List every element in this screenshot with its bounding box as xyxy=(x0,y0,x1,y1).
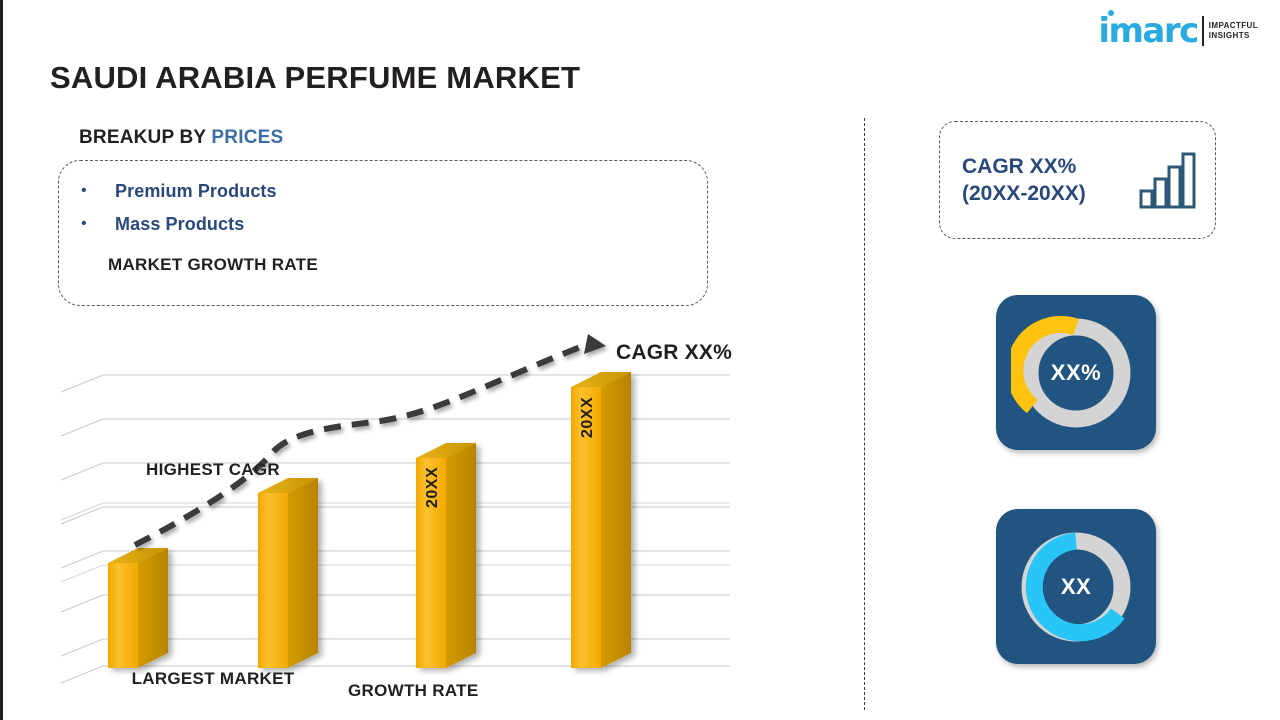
largest-market-card: XX xyxy=(996,509,1156,664)
section-title-prefix: BREAKUP BY xyxy=(79,127,211,148)
bar-front-face xyxy=(108,563,138,668)
largest-market-label: LARGEST MARKET xyxy=(3,669,423,689)
list-item-label: Premium Products xyxy=(115,177,277,205)
list-item-label: Mass Products xyxy=(115,210,244,238)
section-title-accent: PRICES xyxy=(211,127,283,148)
bar-side-face xyxy=(138,548,168,668)
panel-divider xyxy=(864,118,865,710)
bullet-icon: • xyxy=(81,210,115,238)
trend-line xyxy=(135,334,606,545)
chart-svg: 20XX 20XX xyxy=(43,330,783,710)
bar-front-face xyxy=(258,493,288,668)
highest-cagr-label: HIGHEST CAGR xyxy=(3,460,423,480)
bar-label-3: 20XX xyxy=(424,467,441,508)
page-title: SAUDI ARABIA PERFUME MARKET xyxy=(50,60,580,96)
growth-rate-line1: CAGR XX% xyxy=(962,153,1137,180)
highest-cagr-value: XX% xyxy=(1051,360,1101,386)
highest-cagr-card: XX% xyxy=(996,295,1156,450)
breakup-list-box: • Premium Products • Mass Products xyxy=(58,160,708,306)
bar-label-4: 20XX xyxy=(579,397,596,438)
bullet-icon: • xyxy=(81,177,115,205)
market-growth-rate-label: MARKET GROWTH RATE xyxy=(3,255,423,275)
bar-group-2 xyxy=(258,478,318,668)
trend-arrow-icon xyxy=(584,334,606,354)
logo-wordmark: imarc xyxy=(1098,14,1199,48)
bar-group-1 xyxy=(108,548,168,668)
logo-tagline-line1: IMPACTFUL xyxy=(1209,21,1258,31)
bar-side-face xyxy=(446,443,476,668)
list-item: • Mass Products xyxy=(81,210,707,238)
logo-wordmark-text: imarc xyxy=(1098,11,1197,51)
growth-rate-value: CAGR XX% (20XX-20XX) xyxy=(962,153,1137,208)
bar-chart-icon xyxy=(1137,149,1199,211)
logo-tagline-line2: INSIGHTS xyxy=(1209,31,1258,41)
imarc-logo: imarc IMPACTFUL INSIGHTS xyxy=(1098,14,1258,48)
growth-rate-line2: (20XX-20XX) xyxy=(962,180,1137,207)
growth-bar-chart: 20XX 20XX xyxy=(43,330,783,710)
list-item: • Premium Products xyxy=(81,177,707,205)
logo-divider xyxy=(1202,16,1204,46)
largest-market-value: XX xyxy=(1061,574,1091,600)
logo-tagline: IMPACTFUL INSIGHTS xyxy=(1209,21,1258,41)
section-title: BREAKUP BY PRICES xyxy=(79,127,283,149)
bar-side-face xyxy=(601,372,631,668)
bar-side-face xyxy=(288,478,318,668)
market-growth-rate-box: CAGR XX% (20XX-20XX) xyxy=(939,121,1216,239)
cagr-callout-label: CAGR XX% xyxy=(616,341,732,365)
